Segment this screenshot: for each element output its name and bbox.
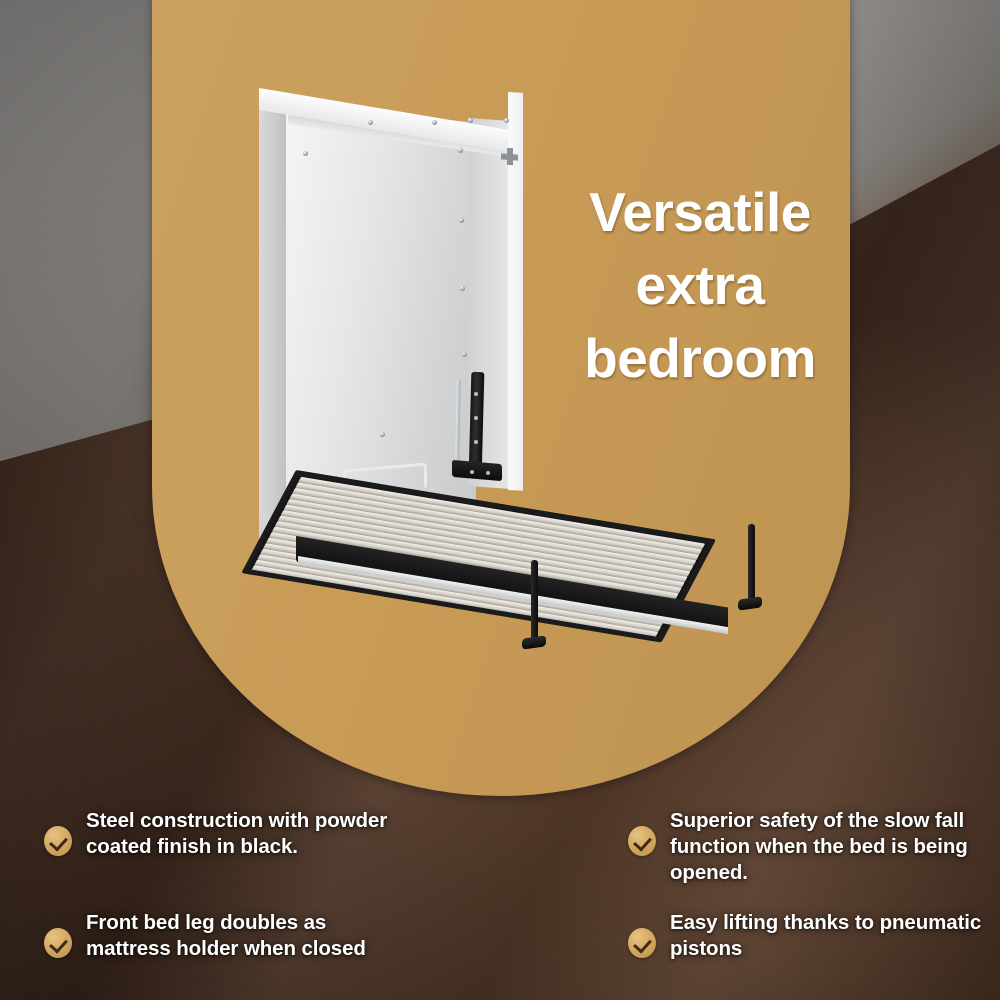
screw-hole bbox=[368, 120, 373, 125]
headline-line-3: bedroom bbox=[540, 322, 860, 395]
feature-item-4: Easy lifting thanks to pneumatic pistons bbox=[628, 910, 988, 962]
feature-text: Easy lifting thanks to pneumatic pistons bbox=[670, 910, 988, 962]
hinge-rivet bbox=[474, 440, 478, 444]
screw-hole bbox=[468, 118, 473, 123]
check-circle-icon bbox=[44, 826, 72, 856]
feature-list: Steel construction with powder coated fi… bbox=[0, 800, 1000, 1000]
hinge-rivet bbox=[474, 392, 478, 396]
screw-hole bbox=[380, 432, 385, 437]
hinge-rivet bbox=[474, 416, 478, 420]
check-circle-icon bbox=[628, 928, 656, 958]
check-circle-icon bbox=[44, 928, 72, 958]
screw-hole bbox=[460, 286, 465, 291]
page-title: Versatile extra bedroom bbox=[540, 176, 860, 395]
feature-text: Front bed leg doubles as mattress holder… bbox=[86, 910, 404, 962]
check-circle-icon bbox=[628, 826, 656, 856]
screw-hole bbox=[303, 151, 308, 156]
bed-leg-rear bbox=[748, 524, 755, 604]
hinge-rivet bbox=[486, 471, 490, 475]
product-infographic: Versatile extra bedroom Steel constructi… bbox=[0, 0, 1000, 1000]
screw-hole bbox=[458, 148, 463, 153]
screw-hole bbox=[432, 120, 437, 125]
screw-hole bbox=[504, 118, 509, 123]
cross-bracket-icon bbox=[501, 147, 518, 165]
bed-leg-front bbox=[531, 560, 538, 642]
bed-leg-foot bbox=[522, 635, 546, 649]
headline-line-2: extra bbox=[540, 249, 860, 322]
screw-hole bbox=[462, 352, 467, 357]
feature-text: Steel construction with powder coated fi… bbox=[86, 808, 404, 860]
headline-line-1: Versatile bbox=[540, 176, 860, 249]
feature-text: Superior safety of the slow fall functio… bbox=[670, 808, 988, 886]
screw-hole bbox=[459, 218, 464, 223]
hinge-rivet bbox=[470, 470, 474, 474]
bed-leg-foot bbox=[738, 596, 762, 610]
feature-item-3: Superior safety of the slow fall functio… bbox=[628, 808, 988, 886]
feature-item-1: Steel construction with powder coated fi… bbox=[44, 808, 404, 860]
feature-item-2: Front bed leg doubles as mattress holder… bbox=[44, 910, 404, 962]
